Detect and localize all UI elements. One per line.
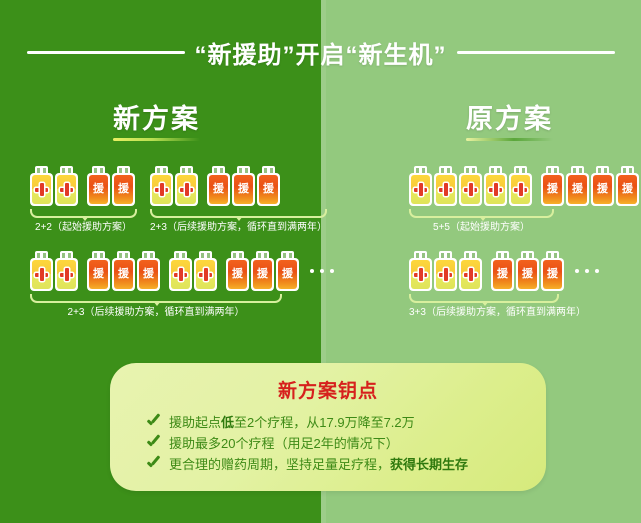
bottle-body [30,173,53,206]
red-cross-icon [439,268,452,281]
bottle-body: 援 [541,258,564,291]
pill-bottle-plain [409,166,432,206]
bottle-body: 援 [226,258,249,291]
pill-bottle-aid: 援 [207,166,230,206]
row-caption: 2+3（后续援助方案，循环直到满两年） [30,306,282,319]
bottle-body: 援 [257,173,280,206]
pill-bottle-plain [459,166,482,206]
new-plan-row-2: 援援援 援援援 2+3（后续援助方案，循环直到满两年） [30,251,334,319]
pill-bottle-aid: 援 [516,251,539,291]
brace-icon [409,294,559,303]
bottle-group [409,251,484,291]
bullet-text: 援助最多20个疗程（用足2年的情况下） [169,433,399,454]
old-plan-row-2: 援援援 3+3（后续援助方案，循环直到满两年） [409,251,599,319]
red-cross-icon [464,183,477,196]
title-rule-left-icon [27,51,185,54]
bottle-body: 援 [566,173,589,206]
aid-char-label: 援 [232,269,243,280]
bottle-body: 援 [616,173,639,206]
ellipsis-icon [566,251,599,291]
aid-char-label: 援 [282,269,293,280]
pill-bottle-aid: 援 [232,166,255,206]
pill-bottle-aid: 援 [491,251,514,291]
bottle-body [150,173,173,206]
aid-char-label: 援 [497,269,508,280]
pill-bottle-plain [169,251,192,291]
key-points-title: 新方案钥点 [110,376,546,403]
red-cross-icon [174,268,187,281]
bottle-group: 援援援援援 [541,166,641,206]
bottle-row: 援援援 [409,251,599,291]
pill-bottle-aid: 援 [251,251,274,291]
bottle-body: 援 [112,173,135,206]
page-title: “新援助”开启“新生机” [195,35,447,70]
pill-bottle-aid: 援 [566,166,589,206]
column-heading-underline [113,138,200,141]
pill-bottle-plain [484,166,507,206]
pill-bottle-plain [194,251,217,291]
pill-bottle-aid: 援 [112,166,135,206]
brace-icon [30,294,282,303]
pill-bottle-aid: 援 [226,251,249,291]
bottle-body [434,258,457,291]
pill-bottle-plain [30,166,53,206]
bottle-body [459,173,482,206]
bottle-body [409,173,432,206]
aid-char-label: 援 [597,184,608,195]
bottle-group: 援援援 [491,251,566,291]
row-caption: 2+3（后续援助方案，循环直到满两年） [150,221,327,234]
pill-bottle-aid: 援 [257,166,280,206]
aid-char-label: 援 [118,269,129,280]
aid-char-label: 援 [143,269,154,280]
list-item: 援助最多20个疗程（用足2年的情况下） [146,433,546,454]
pill-bottle-plain [434,166,457,206]
pill-bottle-plain [55,166,78,206]
key-points-list: 援助起点低至2个疗程，从17.9万降至7.2万 援助最多20个疗程（用足2年的情… [110,412,546,475]
poster-root: “新援助”开启“新生机” 新方案 原方案 援援 2+2（起始援助方案） 援援援 … [0,0,641,523]
pill-bottle-aid: 援 [541,166,564,206]
row-caption: 3+3（后续援助方案，循环直到满两年） [409,306,559,319]
bottle-group: 援援援 [30,251,162,291]
bottle-group: 援援援 [169,251,301,291]
title-rule-right-icon [457,51,615,54]
bottle-body [55,258,78,291]
bottle-body: 援 [516,258,539,291]
bottle-group: 援援 [30,166,137,206]
list-item: 更合理的赠药周期，坚持足量足疗程，获得长期生存 [146,454,546,475]
red-cross-icon [199,268,212,281]
bottle-body [509,173,532,206]
bottle-body [175,173,198,206]
red-cross-icon [60,268,73,281]
bullet-text: 更合理的赠药周期，坚持足量足疗程，获得长期生存 [169,454,468,475]
brace-icon [30,209,137,218]
bottle-body [30,258,53,291]
red-cross-icon [414,183,427,196]
bottle-body [409,258,432,291]
aid-char-label: 援 [257,269,268,280]
red-cross-icon [414,268,427,281]
aid-char-label: 援 [263,184,274,195]
aid-char-label: 援 [118,184,129,195]
bottle-body [169,258,192,291]
pill-bottle-aid: 援 [87,251,110,291]
poster-title-bar: “新援助”开启“新生机” [0,34,641,70]
red-cross-icon [464,268,477,281]
check-icon [146,415,160,429]
key-points-card: 新方案钥点 援助起点低至2个疗程，从17.9万降至7.2万 援助最多20个疗程（… [110,363,546,491]
aid-char-label: 援 [547,269,558,280]
red-cross-icon [155,183,168,196]
pill-bottle-aid: 援 [541,251,564,291]
check-icon [146,436,160,450]
row-caption: 5+5（起始援助方案） [409,221,554,234]
bottle-body [434,173,457,206]
bullet-text: 援助起点低至2个疗程，从17.9万降至7.2万 [169,412,415,433]
bottle-body: 援 [87,173,110,206]
red-cross-icon [60,183,73,196]
column-heading-new-plan-label: 新方案 [113,102,200,136]
bottle-body: 援 [232,173,255,206]
bottle-body [194,258,217,291]
pill-bottle-plain [30,251,53,291]
pill-bottle-aid: 援 [616,166,639,206]
pill-bottle-plain [434,251,457,291]
row-caption: 2+2（起始援助方案） [30,221,137,234]
pill-bottle-aid: 援 [591,166,614,206]
bottle-body [484,173,507,206]
column-heading-new-plan: 新方案 [113,102,200,141]
pill-bottle-plain [175,166,198,206]
red-cross-icon [35,268,48,281]
bottle-row: 援援援 援援援 [30,251,334,291]
pill-bottle-plain [509,166,532,206]
bottle-group [409,166,534,206]
bottle-body: 援 [207,173,230,206]
bottle-body: 援 [112,258,135,291]
red-cross-icon [35,183,48,196]
bottle-group: 援援援 [150,166,327,206]
pill-bottle-plain [459,251,482,291]
brace-icon [150,209,327,218]
ellipsis-icon [301,251,334,291]
new-plan-row-1: 援援 2+2（起始援助方案） 援援援 2+3（后续援助方案，循环直到满两年） [30,166,327,234]
list-item: 援助起点低至2个疗程，从17.9万降至7.2万 [146,412,546,433]
pill-bottle-plain [409,251,432,291]
bottle-body: 援 [491,258,514,291]
aid-char-label: 援 [522,269,533,280]
column-heading-old-plan: 原方案 [466,102,553,141]
aid-char-label: 援 [213,184,224,195]
pill-bottle-plain [150,166,173,206]
red-cross-icon [514,183,527,196]
bottle-body [459,258,482,291]
column-heading-underline [466,138,553,141]
bottle-body [55,173,78,206]
column-heading-old-plan-label: 原方案 [466,102,553,136]
aid-char-label: 援 [93,184,104,195]
bottle-body: 援 [276,258,299,291]
bottle-body: 援 [541,173,564,206]
aid-char-label: 援 [238,184,249,195]
pill-bottle-aid: 援 [112,251,135,291]
aid-char-label: 援 [622,184,633,195]
bottle-body: 援 [87,258,110,291]
aid-char-label: 援 [547,184,558,195]
red-cross-icon [439,183,452,196]
bottle-body: 援 [137,258,160,291]
old-plan-row-1: 援援援援援 5+5（起始援助方案） [409,166,641,234]
check-icon [146,457,160,471]
aid-char-label: 援 [572,184,583,195]
pill-bottle-plain [55,251,78,291]
red-cross-icon [489,183,502,196]
pill-bottle-aid: 援 [276,251,299,291]
pill-bottle-aid: 援 [87,166,110,206]
red-cross-icon [180,183,193,196]
bottle-body: 援 [591,173,614,206]
brace-icon [409,209,554,218]
aid-char-label: 援 [93,269,104,280]
pill-bottle-aid: 援 [137,251,160,291]
bottle-row: 援援援援援 [409,166,641,206]
bottle-body: 援 [251,258,274,291]
